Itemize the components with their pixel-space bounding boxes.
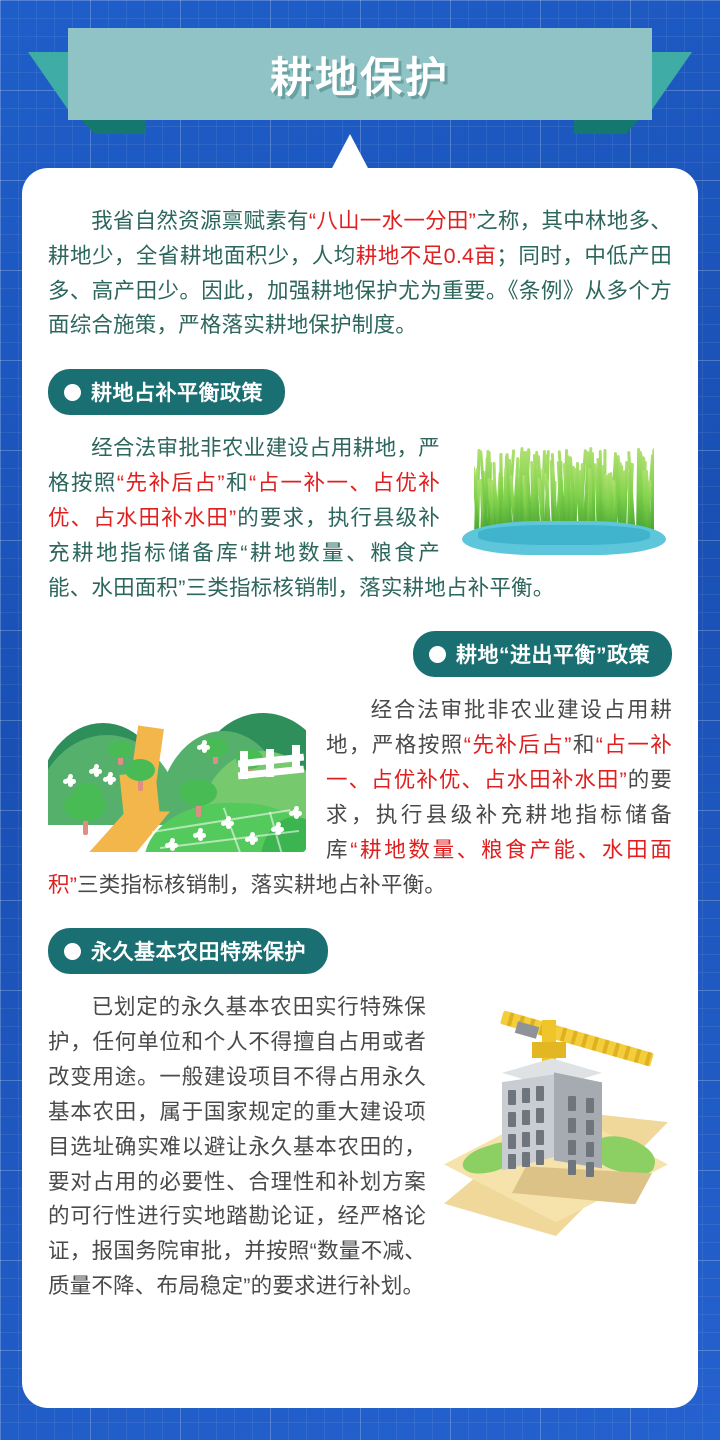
grass-tray-photo bbox=[456, 437, 672, 559]
title-ribbon: 耕地保护 bbox=[0, 14, 720, 134]
page-title: 耕地保护 bbox=[68, 28, 652, 120]
window bbox=[586, 1098, 594, 1113]
bullet-dot-icon bbox=[64, 943, 81, 960]
content-card: 我省自然资源禀赋素有“八山一水一分田”之称，其中林地多、耕地少，全省耕地面积少，… bbox=[22, 168, 698, 1408]
section-in-out-balance: 耕地“进出平衡”政策 bbox=[48, 631, 672, 902]
fence-post bbox=[292, 745, 300, 773]
window bbox=[568, 1160, 576, 1175]
highlight-text: “先补后占” bbox=[117, 471, 225, 495]
section-body-2: 经合法审批非农业建设占用耕地，严格按照“先补后占”和“占一补一、占优补优、占水田… bbox=[48, 693, 672, 902]
window bbox=[536, 1086, 544, 1101]
window bbox=[508, 1112, 516, 1127]
window bbox=[522, 1088, 530, 1103]
window bbox=[536, 1150, 544, 1165]
window bbox=[568, 1140, 576, 1155]
highlight-text: “先补后占” bbox=[464, 733, 572, 757]
fence-post bbox=[266, 749, 274, 777]
body-text: 已划定的永久基本农田实行特殊保护，任何单位和个人不得擅自占用或者改变用途。一般建… bbox=[48, 995, 426, 1298]
section-header-label-1: 耕地占补平衡政策 bbox=[91, 377, 263, 407]
window bbox=[508, 1134, 516, 1149]
window bbox=[508, 1090, 516, 1105]
crane-jib bbox=[500, 1011, 654, 1067]
window bbox=[586, 1142, 594, 1157]
section-header-row: 耕地占补平衡政策 bbox=[48, 369, 672, 415]
building-face-right bbox=[554, 1072, 602, 1172]
window bbox=[568, 1118, 576, 1133]
window bbox=[522, 1132, 530, 1147]
window bbox=[586, 1120, 594, 1135]
section-header-row: 永久基本农田特殊保护 bbox=[48, 928, 672, 974]
body-text: 我省自然资源禀赋素有 bbox=[91, 209, 309, 233]
section-header-label-3: 永久基本农田特殊保护 bbox=[91, 936, 306, 966]
crane-cab bbox=[532, 1042, 566, 1058]
green-hills-illustration bbox=[48, 707, 306, 852]
body-text: 和 bbox=[572, 733, 596, 757]
window bbox=[522, 1152, 530, 1167]
construction-crane-illustration bbox=[440, 998, 672, 1256]
section-header-pill-2: 耕地“进出平衡”政策 bbox=[413, 631, 672, 677]
bullet-dot-icon bbox=[429, 646, 446, 663]
section-header-pill-3: 永久基本农田特殊保护 bbox=[48, 928, 328, 974]
window bbox=[536, 1108, 544, 1123]
section-header-pill-1: 耕地占补平衡政策 bbox=[48, 369, 285, 415]
section-header-row: 耕地“进出平衡”政策 bbox=[48, 631, 672, 677]
intro-paragraph: 我省自然资源禀赋素有“八山一水一分田”之称，其中林地多、耕地少，全省耕地面积少，… bbox=[48, 204, 672, 343]
card-pointer-triangle bbox=[331, 134, 369, 170]
body-text: 三类指标核销制，落实耕地占补平衡。 bbox=[77, 873, 446, 897]
window bbox=[568, 1096, 576, 1111]
fence-post bbox=[240, 751, 248, 779]
highlight-text: “八山一水一分田” bbox=[309, 209, 476, 233]
section-occupation-compensation-balance: 耕地占补平衡政策 经合法审批非农业建设占用耕地，严格按照“先补后占”和“占一补一… bbox=[48, 369, 672, 605]
window bbox=[586, 1162, 594, 1177]
section-body-1: 经合法审批非农业建设占用耕地，严格按照“先补后占”和“占一补一、占优补优、占水田… bbox=[48, 431, 672, 605]
highlight-text: 耕地不足0.4亩 bbox=[356, 244, 497, 268]
grass-tray-inner bbox=[478, 525, 650, 545]
window bbox=[508, 1154, 516, 1169]
window bbox=[536, 1130, 544, 1145]
section-body-3: 已划定的永久基本农田实行特殊保护，任何单位和个人不得擅自占用或者改变用途。一般建… bbox=[48, 990, 672, 1303]
body-text: 和 bbox=[225, 471, 249, 495]
bullet-dot-icon bbox=[64, 384, 81, 401]
window bbox=[522, 1110, 530, 1125]
section-permanent-basic-farmland: 永久基本农田特殊保护 bbox=[48, 928, 672, 1303]
section-header-label-2: 耕地“进出平衡”政策 bbox=[456, 639, 650, 669]
